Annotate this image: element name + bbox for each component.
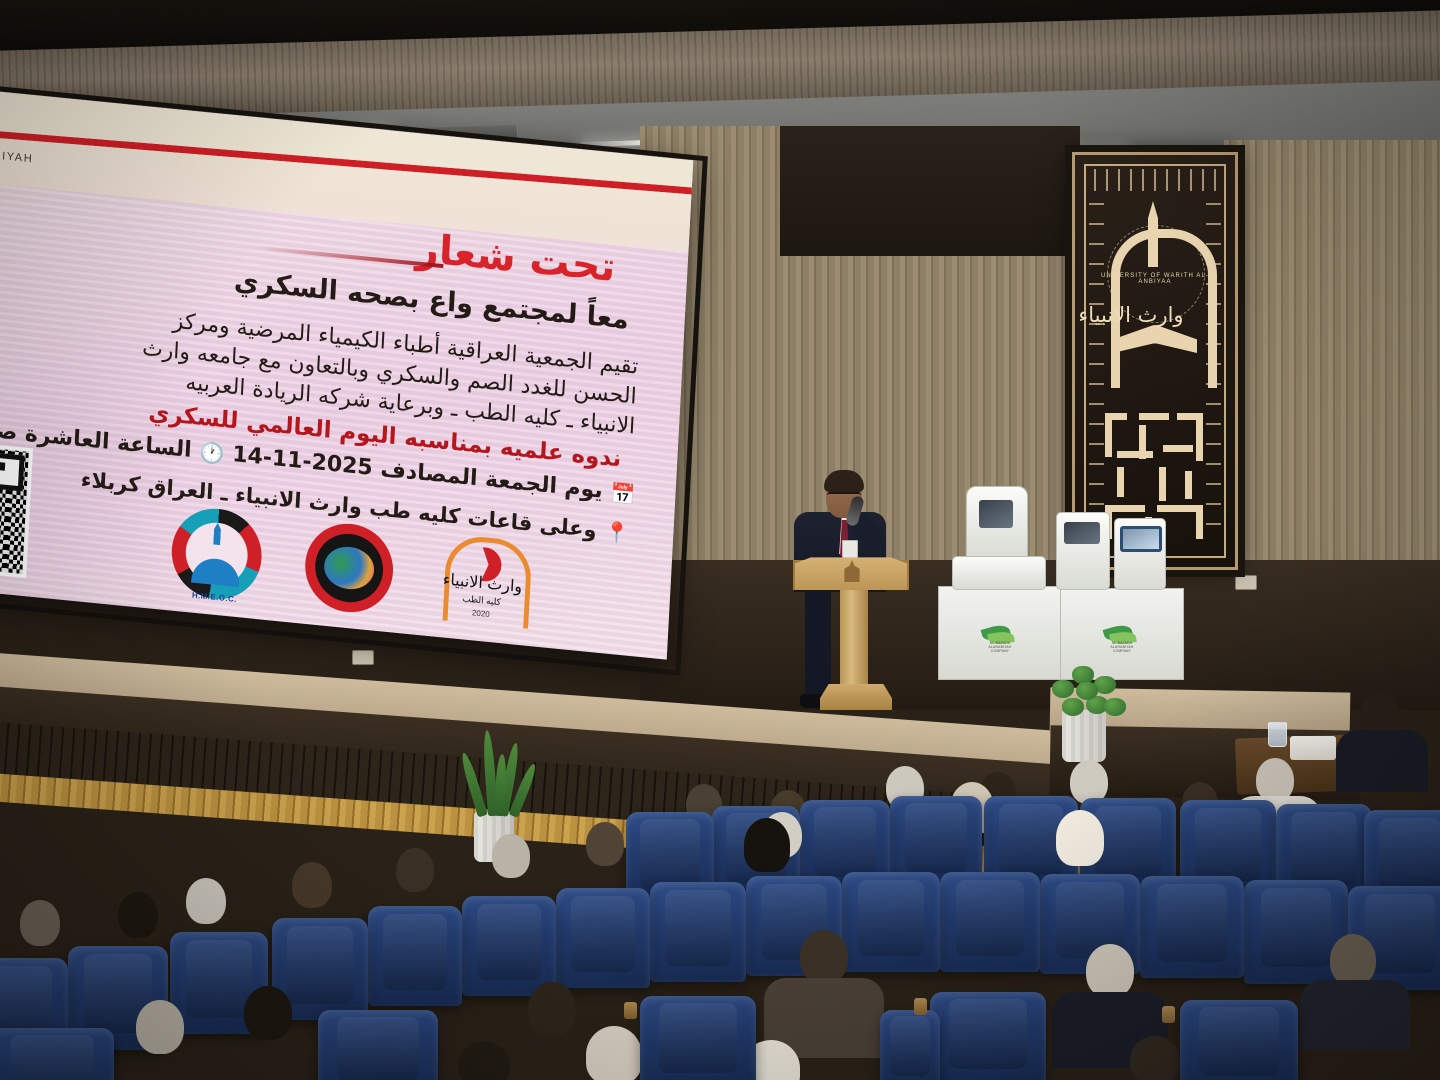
seat[interactable] — [880, 1010, 940, 1080]
audience-head — [244, 986, 292, 1040]
seat[interactable] — [930, 992, 1046, 1080]
audience-head — [1130, 1036, 1180, 1080]
audience-head — [136, 1000, 184, 1054]
clock-icon: 🕐 — [199, 439, 225, 465]
audience-head — [1086, 944, 1134, 998]
analyzer-screen — [979, 500, 1013, 528]
wall-wood-slats — [1224, 140, 1440, 570]
podium-stem — [840, 588, 868, 686]
audience-head — [528, 982, 576, 1036]
qr-finder-icon — [0, 452, 25, 491]
map-pin-icon: 📍 — [604, 519, 630, 545]
plinth-logo-right: AL-RAYADA ALARABIYAH COMPANY — [1102, 622, 1142, 648]
plinth-logo-text-2: AL-RAYADA ALARABIYAH COMPANY — [1102, 641, 1142, 653]
audience-head — [492, 834, 530, 878]
hmedc-emblem — [169, 505, 263, 604]
audience-head-hijab — [586, 1026, 642, 1080]
seat[interactable] — [318, 1010, 438, 1080]
seat[interactable] — [842, 872, 940, 972]
audience-head-hijab — [1056, 810, 1104, 866]
university-emblem: UNIVERSITY OF WARITH AL-ANBIYAA — [1099, 201, 1211, 391]
panel-frieze-ornament — [1089, 169, 1221, 191]
auditorium-photo: UNIVERSITY OF WARITH AL-ANBIYAA وارث الا… — [0, 0, 1440, 1080]
seat[interactable] — [940, 872, 1040, 972]
seat-armrest — [624, 1002, 637, 1019]
analyzer-screen-dark — [1064, 522, 1100, 544]
speaker-hair — [824, 470, 864, 492]
audience-head — [292, 862, 332, 908]
warith-college-of-medicine-logo: وارث الانبياء كليه الطب 2020 — [434, 525, 531, 630]
seat[interactable] — [368, 906, 462, 1006]
seat[interactable] — [650, 882, 746, 982]
seat[interactable] — [1140, 876, 1244, 978]
plinth-logo-text: AL-RAYADA ALARABIYAH COMPANY — [980, 641, 1020, 653]
seat[interactable] — [556, 888, 650, 988]
seat-armrest — [914, 998, 927, 1015]
audience-shoulders — [1336, 730, 1428, 792]
audience-head — [1330, 934, 1376, 986]
decorative-wall-panel: UNIVERSITY OF WARITH AL-ANBIYAA وارث الا… — [1072, 152, 1238, 570]
audience-head — [458, 1042, 510, 1080]
seat[interactable] — [462, 896, 556, 996]
water-glass — [1268, 722, 1287, 747]
snake-plant — [470, 730, 530, 816]
audience-head — [186, 878, 226, 924]
emblem-text-ar: وارث الانبياء — [1075, 305, 1187, 326]
tissue-box — [1290, 736, 1336, 760]
speaker-badge — [842, 540, 858, 560]
chemists-emblem — [303, 520, 395, 617]
analyzer-screen-blue — [1120, 526, 1162, 552]
iraqi-clinical-chemists-logo — [303, 520, 395, 617]
seat[interactable] — [1180, 1000, 1298, 1080]
hmedc-logo: H.M.E.O.C. — [169, 505, 263, 604]
audience-head — [118, 892, 158, 938]
wall-dark-recess — [780, 126, 1080, 256]
sponsor-name: AL-RAYADA ALARABIYAH — [0, 137, 34, 165]
analyzer-base-left — [952, 556, 1046, 590]
audience-head — [800, 930, 848, 984]
slide-title: تحت شعار — [415, 225, 617, 291]
audience-head-hijab — [744, 818, 790, 872]
emblem-text-en: UNIVERSITY OF WARITH AL-ANBIYAA — [1099, 273, 1211, 285]
audience-head — [396, 848, 434, 892]
audience-head — [586, 822, 624, 866]
audience-shoulders — [1300, 980, 1410, 1050]
calendar-icon: 📅 — [610, 480, 636, 506]
audience-head — [20, 900, 60, 946]
seat[interactable] — [640, 996, 756, 1080]
wall-socket — [1235, 575, 1257, 590]
podium-base — [820, 684, 892, 710]
projection-screen[interactable]: AL-RAYADA ALARABIYAH COMPANY pushing our… — [0, 82, 693, 660]
seat[interactable] — [0, 1028, 114, 1080]
speaker-legs — [805, 590, 831, 700]
slide-date-value: 14-11-2025 — [232, 442, 374, 481]
wall-socket — [352, 650, 374, 665]
seat-armrest — [1162, 1006, 1175, 1023]
plinth-logo-left: AL-RAYADA ALARABIYAH COMPANY — [980, 622, 1020, 648]
pothos-plant — [1050, 662, 1126, 722]
